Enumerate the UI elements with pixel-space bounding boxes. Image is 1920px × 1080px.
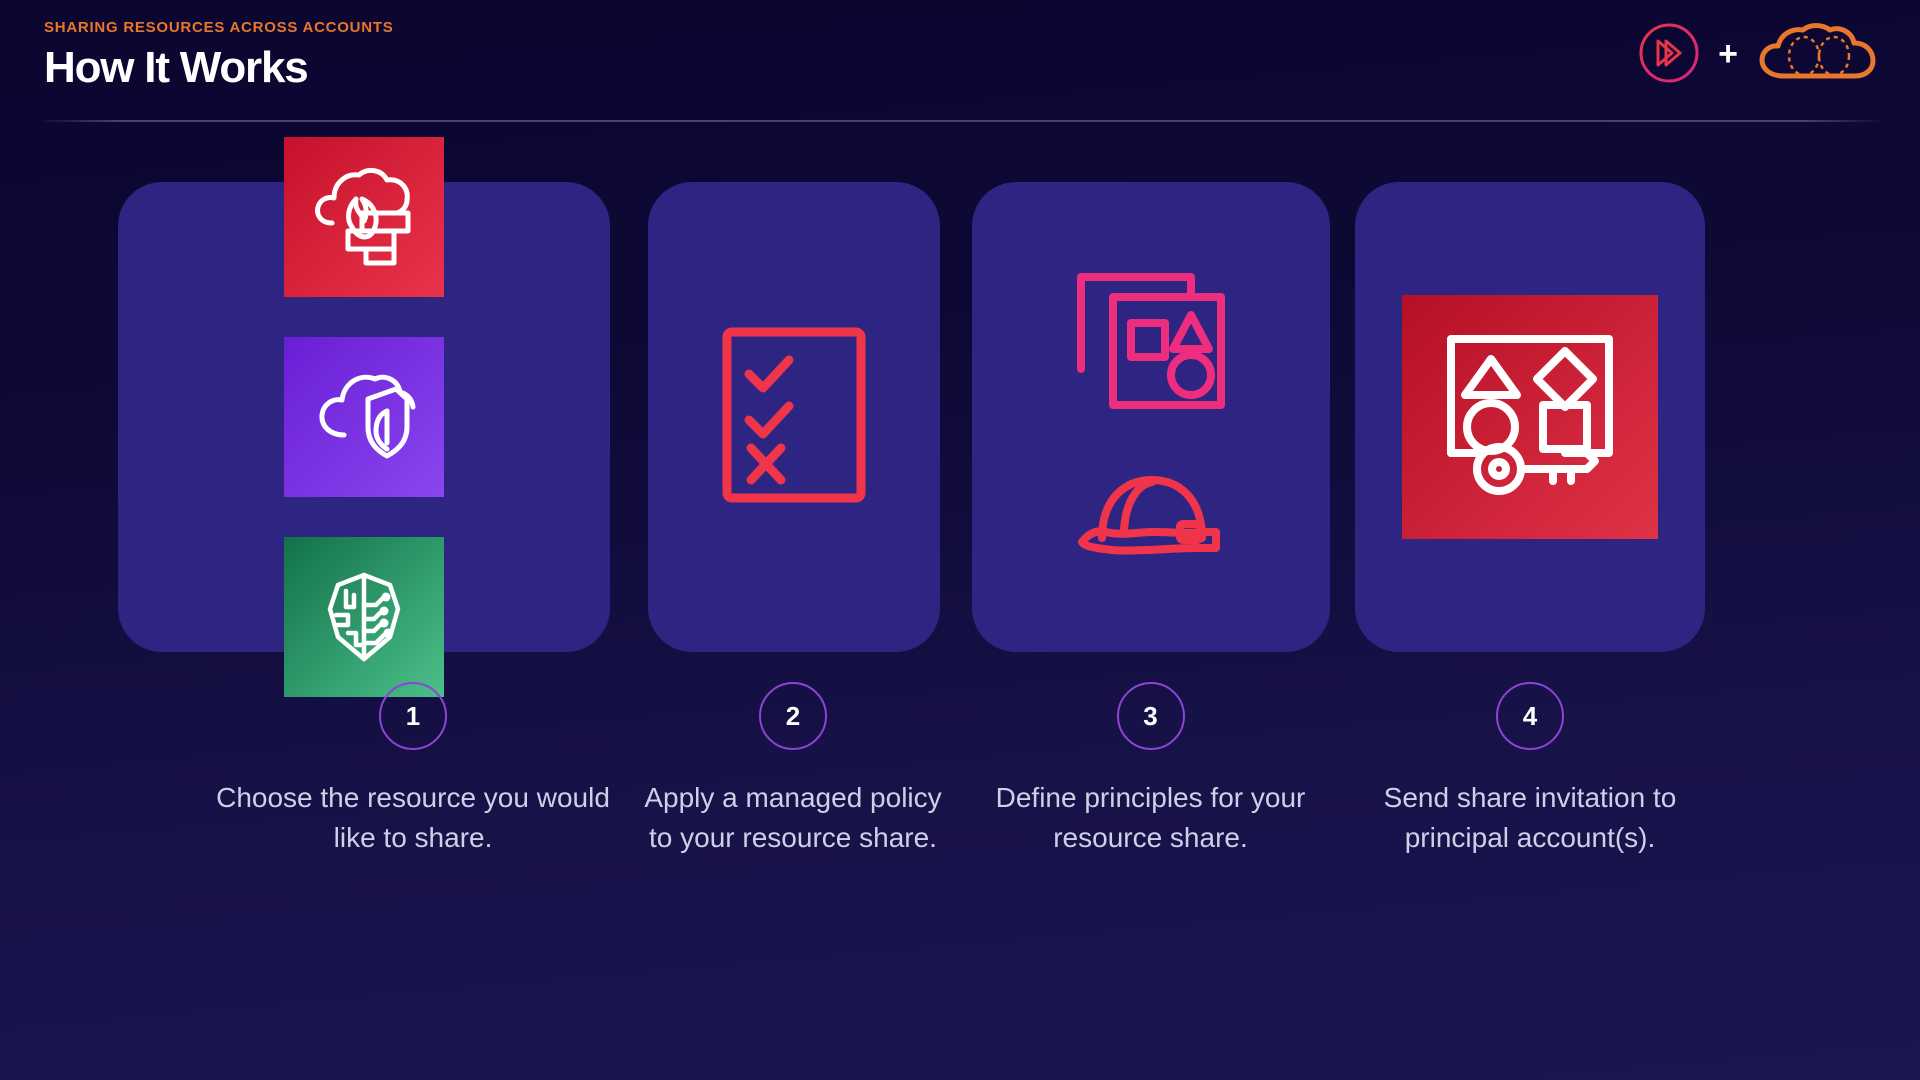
page-title: How It Works xyxy=(44,45,394,91)
machine-learning-brain-icon-tile xyxy=(284,537,444,697)
steps-row: 1 Choose the resource you would like to … xyxy=(118,682,1718,972)
illustration-card-1 xyxy=(118,182,610,652)
orange-cloud-logo xyxy=(1756,22,1878,89)
hard-hat-icon xyxy=(1076,470,1226,563)
step-caption: Define principles for your resource shar… xyxy=(978,778,1323,858)
step-3: 3 Define principles for your resource sh… xyxy=(978,682,1323,858)
step-2: 2 Apply a managed policy to your resourc… xyxy=(643,682,943,858)
step-caption: Send share invitation to principal accou… xyxy=(1340,778,1720,858)
step-caption: Apply a managed policy to your resource … xyxy=(643,778,943,858)
illustration-card-4 xyxy=(1355,182,1705,652)
step-number-badge: 2 xyxy=(759,682,827,750)
service-icon-tiles xyxy=(214,137,514,697)
step-number-badge: 1 xyxy=(379,682,447,750)
play-triangle-circle-logo xyxy=(1638,22,1700,89)
illustration-card-2 xyxy=(648,182,940,652)
step-number-badge: 4 xyxy=(1496,682,1564,750)
step-caption: Choose the resource you would like to sh… xyxy=(213,778,613,858)
page-header: SHARING RESOURCES ACROSS ACCOUNTS How It… xyxy=(0,0,1920,122)
resource-access-manager-icon xyxy=(1441,329,1619,506)
header-logos: + xyxy=(1638,22,1878,89)
step-4: 4 Send share invitation to principal acc… xyxy=(1340,682,1720,858)
firewall-icon xyxy=(308,161,420,273)
illustration-cards-row xyxy=(118,182,1718,652)
step-1: 1 Choose the resource you would like to … xyxy=(213,682,613,858)
eyebrow-label: SHARING RESOURCES ACROSS ACCOUNTS xyxy=(44,20,394,37)
firewall-icon-tile xyxy=(284,137,444,297)
resource-layers-icon xyxy=(1075,271,1227,418)
step-number-badge: 3 xyxy=(1117,682,1185,750)
resource-access-manager-icon-tile xyxy=(1402,295,1658,539)
card-3-icon-stack xyxy=(1075,271,1227,563)
header-text-block: SHARING RESOURCES ACROSS ACCOUNTS How It… xyxy=(44,20,394,91)
plus-separator: + xyxy=(1718,37,1738,75)
machine-learning-brain-icon xyxy=(308,561,420,673)
illustration-card-3 xyxy=(972,182,1330,652)
policy-checklist-icon xyxy=(719,324,869,511)
cloud-shield-icon xyxy=(308,361,420,473)
cloud-shield-icon-tile xyxy=(284,337,444,497)
header-divider xyxy=(42,120,1880,122)
